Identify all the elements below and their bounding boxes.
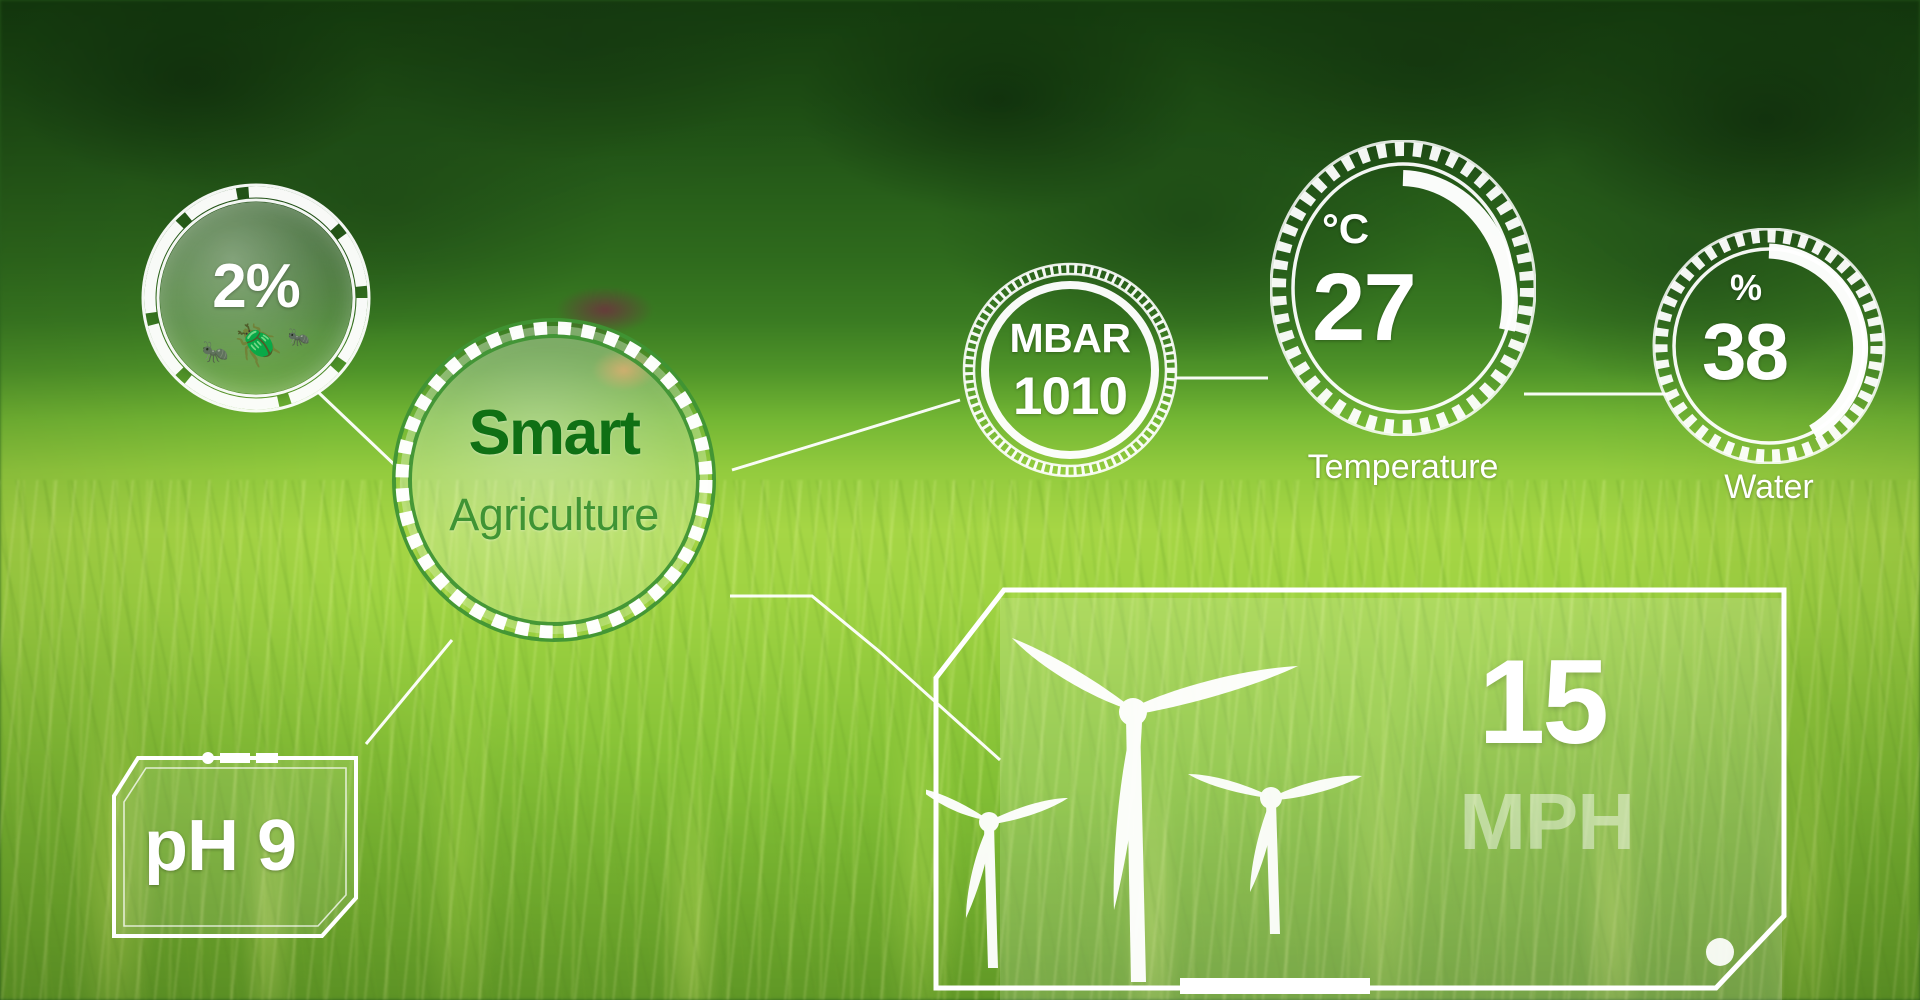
- wind-speed-value: 15: [1479, 642, 1606, 762]
- pest-icons-group: 🐜 🪲 🐜: [138, 326, 374, 366]
- temperature-unit-label: °C: [1322, 208, 1369, 250]
- pressure-unit-label: MBAR: [962, 318, 1178, 359]
- water-value: 38: [1702, 312, 1787, 392]
- wind-turbine-icon: [1188, 774, 1362, 934]
- hub-subtitle: Agriculture: [380, 492, 728, 537]
- wind-turbine-icon: [1012, 638, 1298, 982]
- temperature-gauge[interactable]: °C 27 Temperature: [1270, 140, 1536, 436]
- temperature-caption: Temperature: [1308, 448, 1499, 487]
- water-gauge[interactable]: % 38 Water: [1652, 228, 1886, 464]
- pressure-gauge[interactable]: MBAR 1010: [962, 262, 1178, 478]
- ph-panel[interactable]: pH 9: [108, 748, 366, 968]
- wind-panel[interactable]: 15 MPH: [926, 586, 1792, 1000]
- wind-panel-base-bar: [1180, 978, 1370, 994]
- water-unit-label: %: [1730, 270, 1762, 306]
- wind-turbine-icon: [926, 788, 1068, 968]
- pest-percent-value: 2%: [138, 256, 374, 318]
- hub-title: Smart: [380, 402, 728, 465]
- bug-icon-medium: 🐜: [288, 327, 310, 347]
- ph-value: pH 9: [144, 810, 296, 882]
- wind-speed-unit: MPH: [1459, 782, 1634, 862]
- hub-dashed-ring: [380, 306, 728, 654]
- bug-icon-small: 🐜: [202, 339, 229, 364]
- bug-icon-large: 🪲: [234, 324, 284, 368]
- pest-gauge[interactable]: 2% 🐜 🪲 🐜: [138, 180, 374, 416]
- dashboard-scene: 2% 🐜 🪲 🐜 Smart Agriculture MBAR 1010: [0, 0, 1920, 1000]
- temperature-value: 27: [1312, 260, 1415, 356]
- wind-panel-frame: [926, 586, 1792, 1000]
- pressure-value: 1010: [962, 370, 1178, 423]
- smart-agriculture-hub[interactable]: Smart Agriculture: [380, 306, 728, 654]
- water-caption: Water: [1724, 468, 1813, 507]
